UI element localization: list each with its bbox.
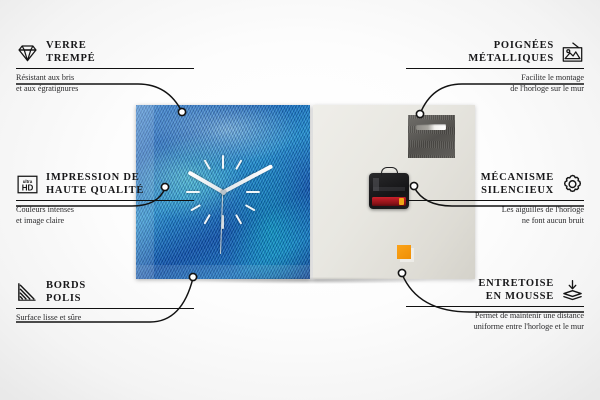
feature-title-line1: POIGNÉES (494, 40, 554, 51)
feature-desc-line1: Les aiguilles de l'horloge (502, 205, 584, 214)
feature-bords-polis: BORDS POLIS Surface lisse et sûre (16, 280, 194, 324)
feature-impression-haute-qualite: ultra HD IMPRESSION DE HAUTE QUALITÉ Cou… (16, 172, 194, 226)
feature-title-line2: MÉTALLIQUES (468, 53, 554, 64)
feature-title-line1: ENTRETOISE (478, 278, 554, 289)
gear-icon (561, 173, 584, 196)
feature-title-line1: VERRE (46, 40, 87, 51)
feature-divider (406, 68, 584, 69)
feature-desc-line1: Facilite le montage (521, 73, 584, 82)
foam-spacer (397, 245, 411, 259)
svg-text:HD: HD (22, 183, 34, 192)
foam-spacer-icon (561, 279, 584, 302)
feature-title-line2: TREMPÉ (46, 53, 95, 64)
feature-divider (16, 200, 194, 201)
infographic-stage: VERRE TREMPÉ Résistant aux bris et aux é… (0, 0, 600, 400)
feature-title-line1: IMPRESSION DE (46, 172, 139, 183)
feature-desc-line1: Surface lisse et sûre (16, 313, 81, 322)
feature-title-line2: SILENCIEUX (481, 185, 554, 196)
hanger-slot (416, 124, 446, 130)
feature-divider (406, 200, 584, 201)
feature-desc-line2: ne font aucun bruit (522, 216, 584, 225)
quartz-mechanism (369, 173, 409, 209)
feature-title-line2: HAUTE QUALITÉ (46, 185, 144, 196)
feature-desc-line2: et image claire (16, 216, 64, 225)
feature-divider (16, 308, 194, 309)
battery (372, 197, 406, 206)
feature-title-line1: BORDS (46, 280, 86, 291)
feature-desc-line1: Résistant aux bris (16, 73, 74, 82)
feature-desc-line2: et aux égratignures (16, 84, 78, 93)
feature-divider (16, 68, 194, 69)
clock-center-cap (221, 190, 226, 195)
feature-entretoise-en-mousse: ENTRETOISE EN MOUSSE Permet de maintenir… (406, 278, 584, 332)
wall-mount-icon (561, 41, 584, 64)
feature-poignees-metalliques: POIGNÉES MÉTALLIQUES Facilite le montage… (406, 40, 584, 94)
polished-edge-icon (16, 281, 39, 304)
feature-title-line1: MÉCANISME (481, 172, 554, 183)
feature-mecanisme-silencieux: MÉCANISME SILENCIEUX Les aiguilles de l'… (406, 172, 584, 226)
feature-desc-line1: Permet de maintenir une distance (475, 311, 584, 320)
feature-verre-trempe: VERRE TREMPÉ Résistant aux bris et aux é… (16, 40, 194, 94)
feature-title-line2: EN MOUSSE (486, 291, 554, 302)
diamond-icon (16, 41, 39, 64)
ultra-hd-icon: ultra HD (16, 173, 39, 196)
metal-hanger-plate (408, 115, 455, 158)
feature-divider (406, 306, 584, 307)
feature-desc-line1: Couleurs intenses (16, 205, 74, 214)
feature-desc-line2: de l'horloge sur le mur (510, 84, 584, 93)
mechanism-housing-detail (373, 178, 405, 191)
mechanism-hanging-loop (381, 167, 398, 176)
feature-desc-line2: uniforme entre l'horloge et le mur (474, 322, 584, 331)
feature-title-line2: POLIS (46, 293, 81, 304)
